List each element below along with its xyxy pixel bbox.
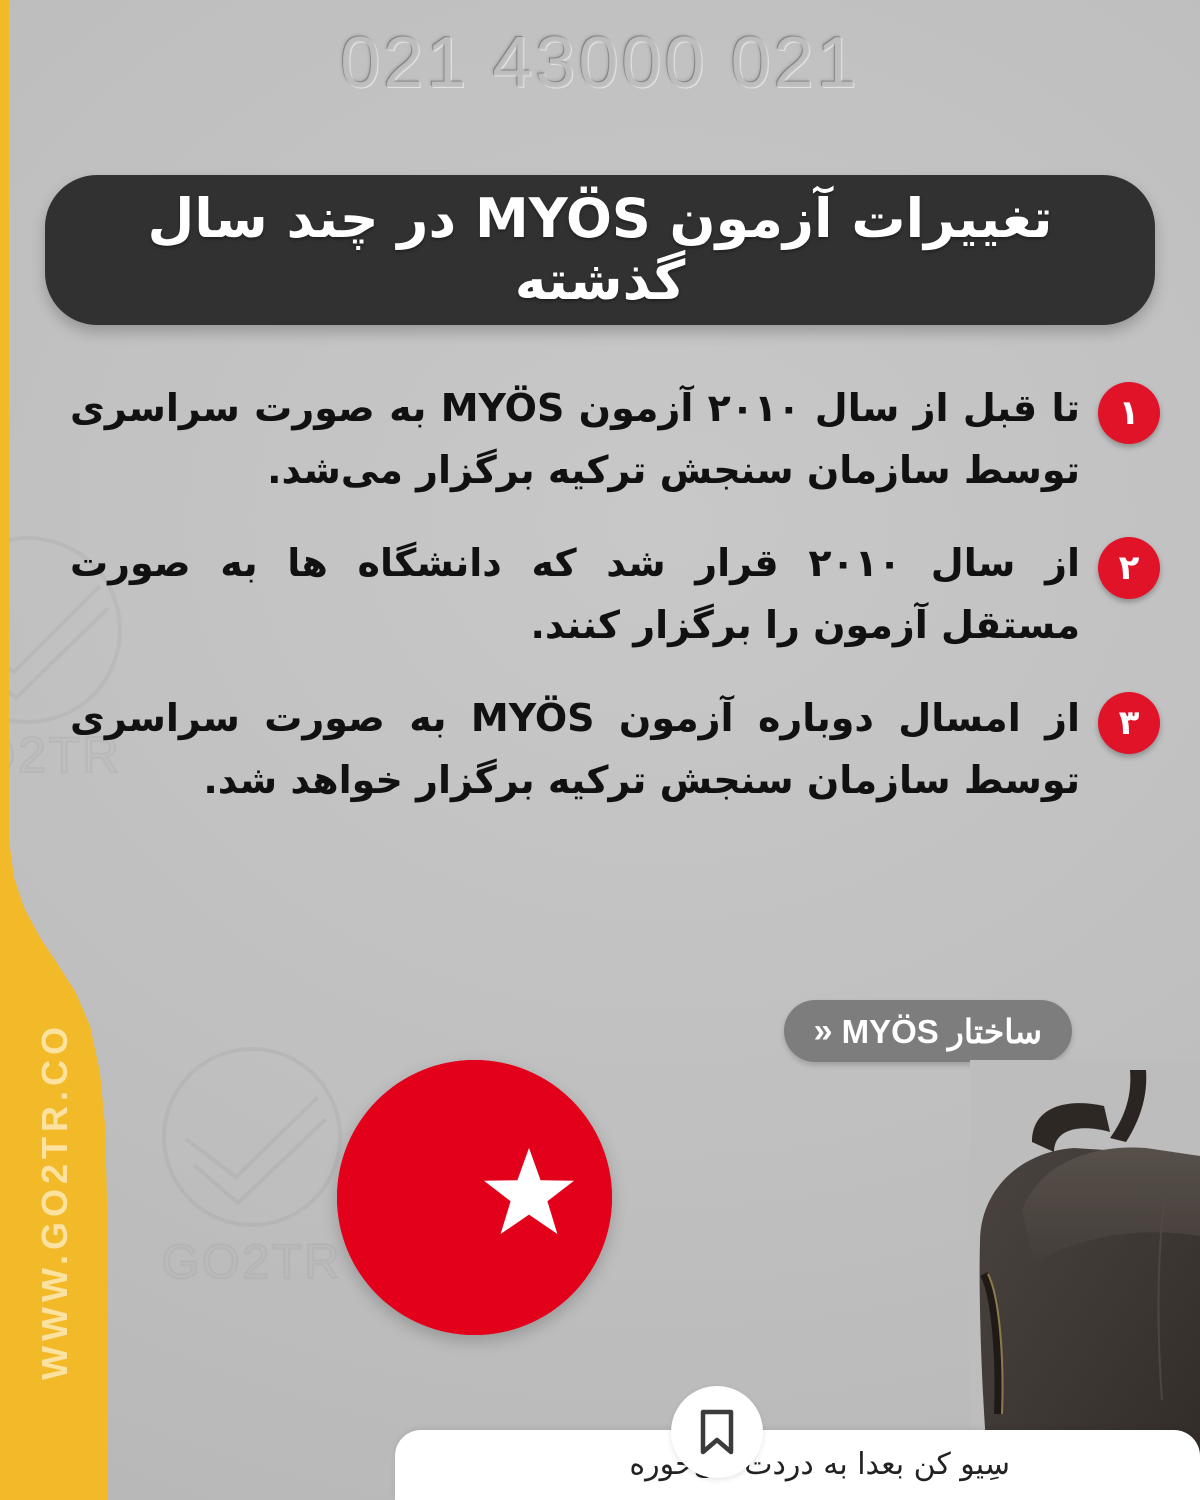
list-item: ۲ از سال ۲۰۱۰ قرار شد که دانشگاه ها به ص… (70, 533, 1160, 656)
list-item: ۱ تا قبل از سال ۲۰۱۰ آزمون MYÖS به صورت … (70, 378, 1160, 501)
list-number-badge: ۱ (1098, 382, 1160, 444)
list-number-badge: ۲ (1098, 537, 1160, 599)
list-item: ۳ از امسال دوباره آزمون MYÖS به صورت سرا… (70, 688, 1160, 811)
phone-number: 021 43000 021 (0, 22, 1200, 104)
double-chevron-left-icon: » (814, 1014, 828, 1048)
list-item-text: تا قبل از سال ۲۰۱۰ آزمون MYÖS به صورت سر… (70, 378, 1080, 501)
bookmark-icon (697, 1408, 737, 1456)
infographic-poster: 021 43000 021 GO2TR GO2TR WWW.GO2TR.CO (0, 0, 1200, 1500)
myos-structure-button[interactable]: ساختار MYÖS » (784, 1000, 1072, 1062)
list-item-text: از سال ۲۰۱۰ قرار شد که دانشگاه ها به صور… (70, 533, 1080, 656)
page-title-pill: تغییرات آزمون MYÖS در چند سال گذشته (45, 175, 1155, 325)
list-number-badge: ۳ (1098, 692, 1160, 754)
cta-label: ساختار MYÖS (842, 1015, 1042, 1048)
list-item-text: از امسال دوباره آزمون MYÖS به صورت سراسر… (70, 688, 1080, 811)
save-prompt-bar: سِیو کن بعدا به دردت می‌خوره (395, 1430, 1200, 1500)
page-title: تغییرات آزمون MYÖS در چند سال گذشته (45, 188, 1155, 312)
bookmark-button[interactable] (671, 1386, 763, 1478)
fact-list: ۱ تا قبل از سال ۲۰۱۰ آزمون MYÖS به صورت … (70, 378, 1160, 843)
turkish-flag-icon (337, 1060, 612, 1335)
